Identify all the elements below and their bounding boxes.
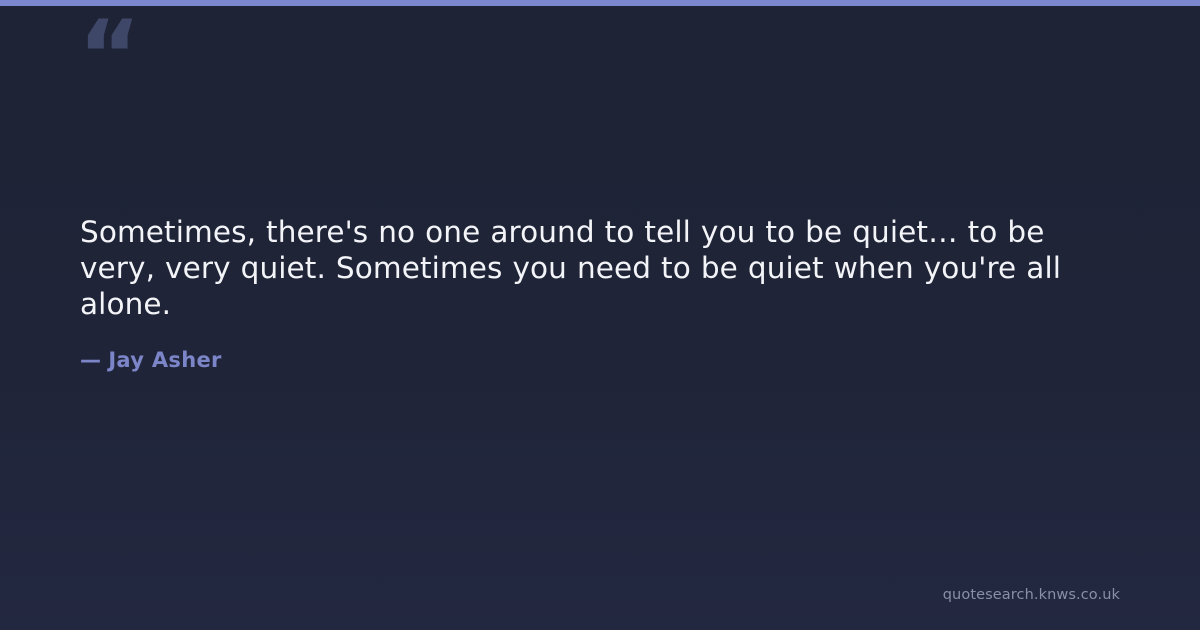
quote-card: “ Sometimes, there's no one around to te… [0, 0, 1200, 630]
source-watermark: quotesearch.knws.co.uk [943, 587, 1120, 603]
attribution-author: Jay Asher [108, 348, 221, 372]
attribution-dash: — [80, 348, 101, 372]
attribution: —Jay Asher [80, 322, 1128, 372]
quote-text: Sometimes, there's no one around to tell… [80, 214, 1128, 322]
opening-quotation-mark-icon: “ [78, 8, 139, 104]
top-accent-bar [0, 0, 1200, 6]
quote-content: Sometimes, there's no one around to tell… [80, 214, 1128, 372]
